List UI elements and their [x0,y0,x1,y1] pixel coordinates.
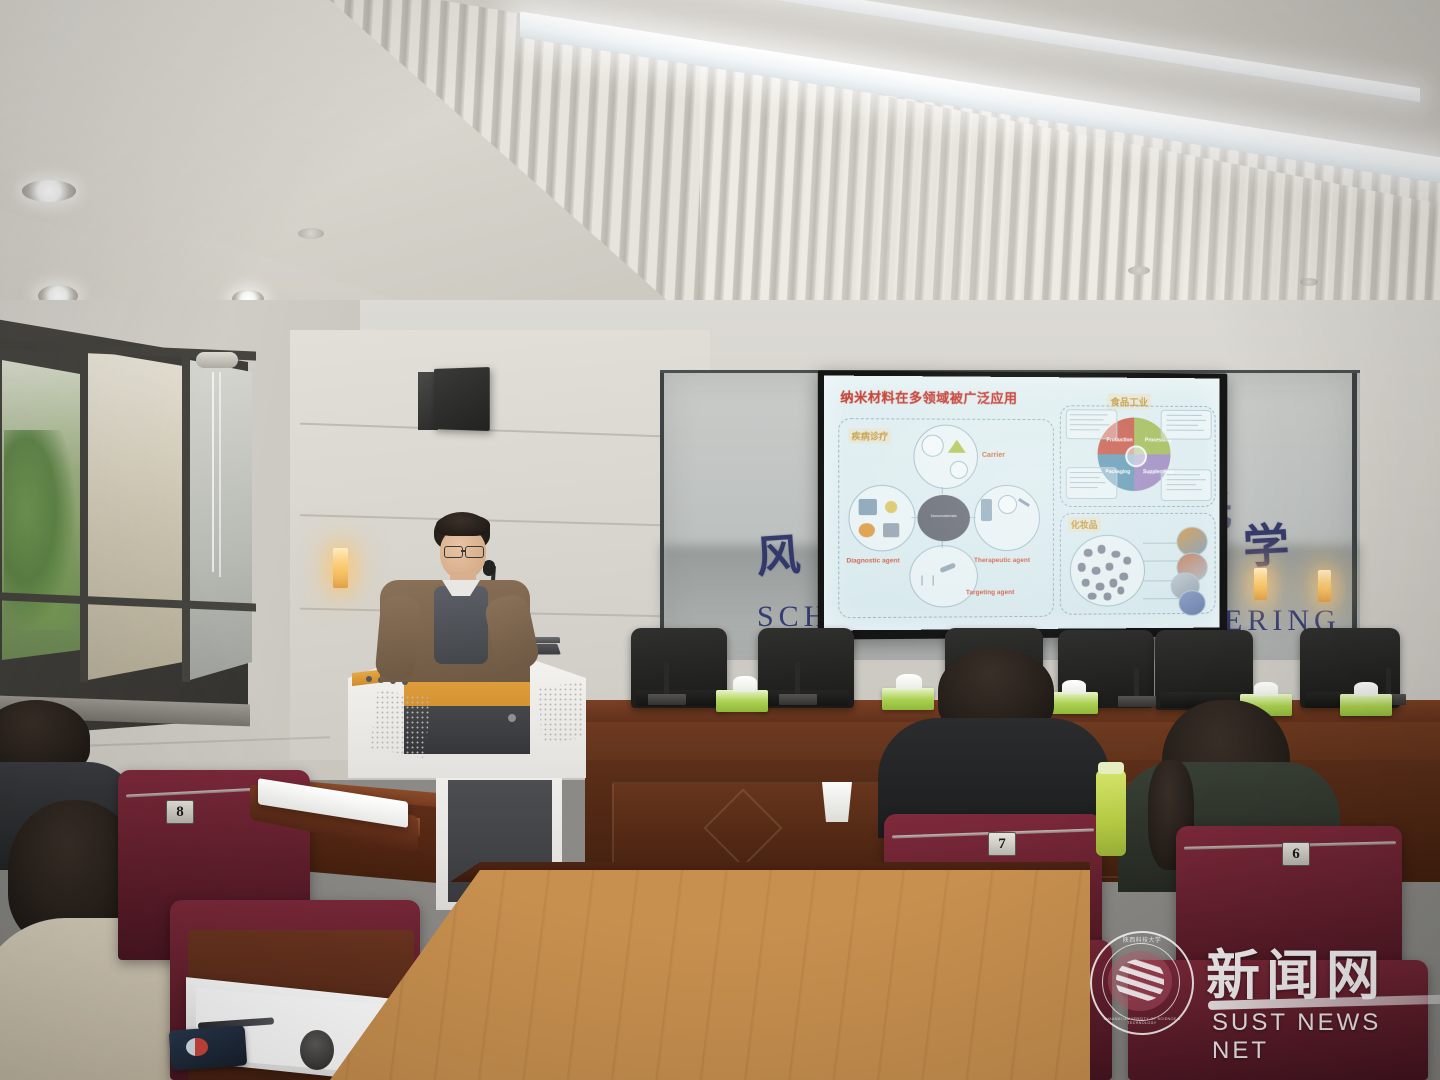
microphone[interactable] [795,662,800,696]
sprinkler-icon [298,228,324,239]
hub-label: Nanomaterials [922,513,966,518]
smartphone[interactable] [169,1025,248,1070]
tissue-sheet [896,674,922,690]
nano-dot [1084,549,1093,557]
wall-sconce [333,548,348,588]
wall-calligraphy-right: 学 [1241,509,1290,577]
window-pane-center [88,350,183,680]
targeting-circle [909,545,978,608]
window-pane-right [190,360,252,680]
watermark: 陕西科技大学 SHAANXI UNIVERSITY OF SCIENCE & T… [1090,925,1430,1043]
downlight-icon [22,180,76,202]
note-line [1070,477,1100,478]
speaker-sweater [434,586,488,664]
podium-grille-right [538,682,582,744]
carrier-circle [913,424,977,488]
seal-hand-emblem-icon [1116,959,1164,1001]
medical-section-label: 疾病诊疗 [848,428,891,443]
note-line [1070,429,1100,430]
carrier-label: Carrier [982,452,1005,459]
nano-dot [1082,579,1090,587]
podium-lock-icon [508,714,516,722]
carrier-star-icon [948,440,966,453]
nano-dot [1105,563,1113,571]
carrier-inner-ring [950,461,968,479]
note-line [1070,472,1108,473]
projection-screen: 纳米材料在多领域被广泛应用 疾病诊疗 Carrier Diagnostic ag… [824,376,1220,631]
wall-sconce [1318,570,1331,602]
seal-top-text: 陕西科技大学 [1112,935,1172,944]
nano-dot [1078,563,1086,572]
nano-dot [1092,567,1101,575]
cosmetic-leader [1143,543,1180,544]
diagnostic-circle [848,485,915,552]
wall-calligraphy-left: 风 [754,519,802,586]
note-line [1167,425,1198,426]
seat-number-badge: 6 [1282,842,1310,866]
glass-frame [660,370,664,662]
tissue-box [716,690,768,712]
tissue-box [882,688,934,710]
note-line [1070,414,1108,415]
carrier-inner-ring [922,435,944,457]
connector [970,517,976,518]
speaker-arm-left [374,594,421,681]
nano-dot [1111,551,1120,558]
tissue-sheet [733,676,757,692]
note-line [1167,489,1202,490]
therapeutic-icon [981,499,992,521]
tissue-box [1048,692,1098,714]
seal-bottom-text: SHAANXI UNIVERSITY OF SCIENCE & TECHNOLO… [1094,1017,1190,1025]
tissue-box [1340,694,1392,716]
conference-room-photo: 风 春 学 光 SCHOO ERING 纳米材料在多领域被广泛应用 疾病诊疗 C… [0,0,1440,1080]
watermark-english: SUST NEWS NET [1212,1009,1430,1065]
tissue-sheet [1062,680,1086,694]
glass-frame [1352,370,1357,662]
wall-speaker-icon [434,367,490,431]
glasses-icon [465,546,484,558]
diagnostic-icon [859,523,875,537]
glasses-bridge [461,550,466,552]
seat-number-badge: 8 [166,800,194,824]
cosmetics-section-label: 化妆品 [1068,517,1101,532]
nano-dot [1098,545,1106,554]
therapeutic-agent-label: Therapeutic agent [974,557,1030,564]
presentation-slide: 纳米材料在多领域被广泛应用 疾病诊疗 Carrier Diagnostic ag… [824,376,1220,631]
podium-grille-left [370,690,432,758]
sprinkler-icon [1128,266,1150,275]
targeting-icon [922,575,934,585]
blind-cord[interactable] [212,372,214,572]
diagnostic-icon [885,501,897,513]
diagnostic-agent-label: Diagnostic agent [846,557,899,564]
connector [942,487,943,494]
window-mullion [182,356,190,682]
cosmetic-leader [1143,560,1180,561]
nano-dot [1117,587,1124,595]
note-line [1070,482,1106,483]
thermos-bottle [1096,770,1126,856]
note-line [1167,415,1202,416]
note-line [1167,479,1206,480]
nano-dot [1123,557,1131,565]
note-line [1167,474,1200,475]
podium-button[interactable] [366,676,372,682]
connector [942,541,943,548]
cosmetic-product-icon [1178,590,1205,616]
nano-dot [1104,593,1112,601]
paper-cup [822,782,852,822]
note-line [1070,424,1110,425]
seat-number-badge: 7 [988,832,1016,856]
podium-microphone-head[interactable] [483,560,495,576]
therapeutic-icon [998,495,1017,514]
pie-center-ring [1125,445,1147,467]
seat-cupholder [300,1030,334,1070]
nano-dot [1109,579,1117,588]
wall-sconce [1254,568,1267,600]
microphone[interactable] [664,662,669,696]
blind-cord[interactable] [219,372,221,577]
nano-dot [1119,573,1128,581]
note-line [1167,420,1206,421]
window-mullion [80,350,88,682]
phone-sticker-icon [186,1038,208,1056]
cosmetic-leader [1143,598,1180,599]
tissue-sheet [1254,682,1278,696]
nano-dot [1096,583,1105,591]
note-line [1070,487,1098,488]
sprinkler-icon [1300,278,1318,286]
slide-title: 纳米材料在多领域被广泛应用 [840,387,1017,407]
nameplate [648,694,686,705]
speaker-fringe [436,514,490,536]
diagnostic-icon [883,523,899,537]
connector [911,517,917,518]
nameplate [779,694,817,705]
note-line [1167,484,1196,485]
nano-dot [1088,593,1097,600]
glasses-icon [444,546,463,558]
diagnostic-icon [859,499,877,515]
note-line [1167,430,1204,431]
window-blind-roller[interactable] [196,352,238,368]
tissue-sheet [1354,682,1378,696]
note-line [1070,419,1104,420]
nameplate [1118,696,1156,707]
thermos-lid [1098,762,1124,774]
targeting-agent-label: Targeting agent [966,589,1014,596]
